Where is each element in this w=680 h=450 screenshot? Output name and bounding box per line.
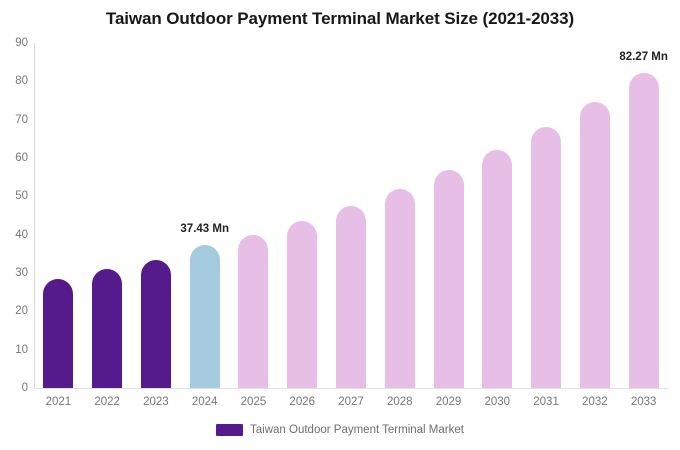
bar-2022[interactable] [92, 43, 122, 388]
y-axis-tick-80: 80 [2, 75, 28, 87]
x-axis-line [34, 388, 668, 389]
legend-swatch-icon [216, 424, 243, 436]
bar-2030[interactable] [482, 43, 512, 388]
bar-2033[interactable]: 82.27 Mn [629, 43, 659, 388]
plot-area: 37.43 Mn82.27 Mn [34, 43, 668, 388]
y-axis-tick-50: 50 [2, 190, 28, 202]
x-axis-tick-2033: 2033 [614, 396, 674, 408]
bar-rect-2026[interactable] [287, 221, 317, 388]
y-axis-tick-10: 10 [2, 344, 28, 356]
bar-rect-2024[interactable] [190, 245, 220, 388]
y-axis-tick-40: 40 [2, 229, 28, 241]
bar-2024[interactable]: 37.43 Mn [190, 43, 220, 388]
y-axis-tick-90: 90 [2, 37, 28, 49]
y-axis-tick-60: 60 [2, 152, 28, 164]
bar-rect-2027[interactable] [336, 206, 366, 388]
bar-2032[interactable] [580, 43, 610, 388]
y-axis-tick-20: 20 [2, 305, 28, 317]
bar-2031[interactable] [531, 43, 561, 388]
bar-rect-2030[interactable] [482, 150, 512, 388]
bar-2023[interactable] [141, 43, 171, 388]
bar-2025[interactable] [238, 43, 268, 388]
bar-2026[interactable] [287, 43, 317, 388]
bar-rect-2025[interactable] [238, 235, 268, 388]
bar-rect-2033[interactable] [629, 73, 659, 388]
bar-rect-2028[interactable] [385, 189, 415, 388]
legend-label: Taiwan Outdoor Payment Terminal Market [250, 424, 464, 436]
bar-2021[interactable] [43, 43, 73, 388]
y-axis-tick-30: 30 [2, 267, 28, 279]
bar-chart: Taiwan Outdoor Payment Terminal Market S… [0, 0, 680, 450]
bar-2029[interactable] [434, 43, 464, 388]
bar-value-label-2024: 37.43 Mn [180, 223, 229, 235]
y-axis-tick-70: 70 [2, 114, 28, 126]
legend-item-0[interactable]: Taiwan Outdoor Payment Terminal Market [216, 424, 464, 436]
chart-title: Taiwan Outdoor Payment Terminal Market S… [0, 9, 680, 29]
y-axis-tick-0: 0 [2, 382, 28, 394]
bar-rect-2022[interactable] [92, 269, 122, 388]
bar-rect-2032[interactable] [580, 102, 610, 388]
bar-rect-2029[interactable] [434, 170, 464, 389]
bar-2028[interactable] [385, 43, 415, 388]
bar-rect-2021[interactable] [43, 279, 73, 388]
bar-rect-2031[interactable] [531, 127, 561, 388]
bar-2027[interactable] [336, 43, 366, 388]
bar-value-label-2033: 82.27 Mn [619, 51, 668, 63]
bar-rect-2023[interactable] [141, 260, 171, 388]
chart-legend: Taiwan Outdoor Payment Terminal Market [0, 424, 680, 436]
